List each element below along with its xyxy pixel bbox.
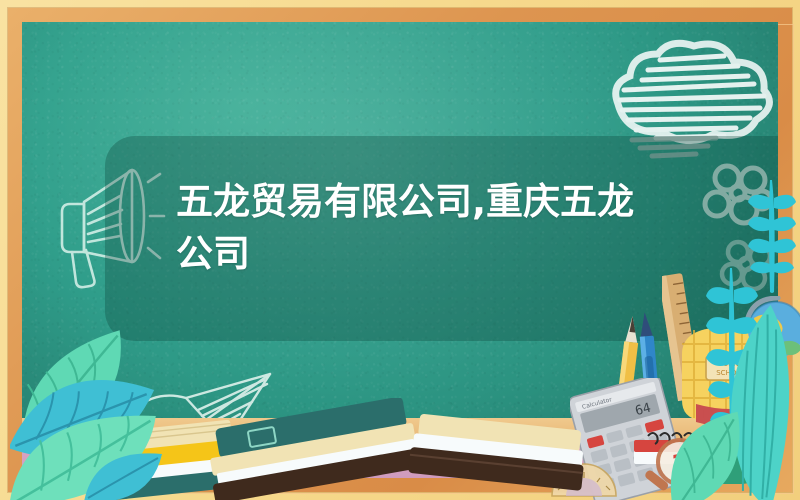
- leaf-icon: [78, 440, 168, 500]
- page-title-line-1: 五龙贸易有限公司,重庆五: [176, 180, 597, 223]
- leaf-icon: [650, 402, 760, 500]
- page-title: 五龙贸易有限公司,重庆五 龙公司: [176, 176, 646, 280]
- illustration-canvas: 五龙贸易有限公司,重庆五 龙公司: [0, 0, 800, 500]
- book-stack: [408, 414, 588, 500]
- book-stack: [200, 398, 430, 500]
